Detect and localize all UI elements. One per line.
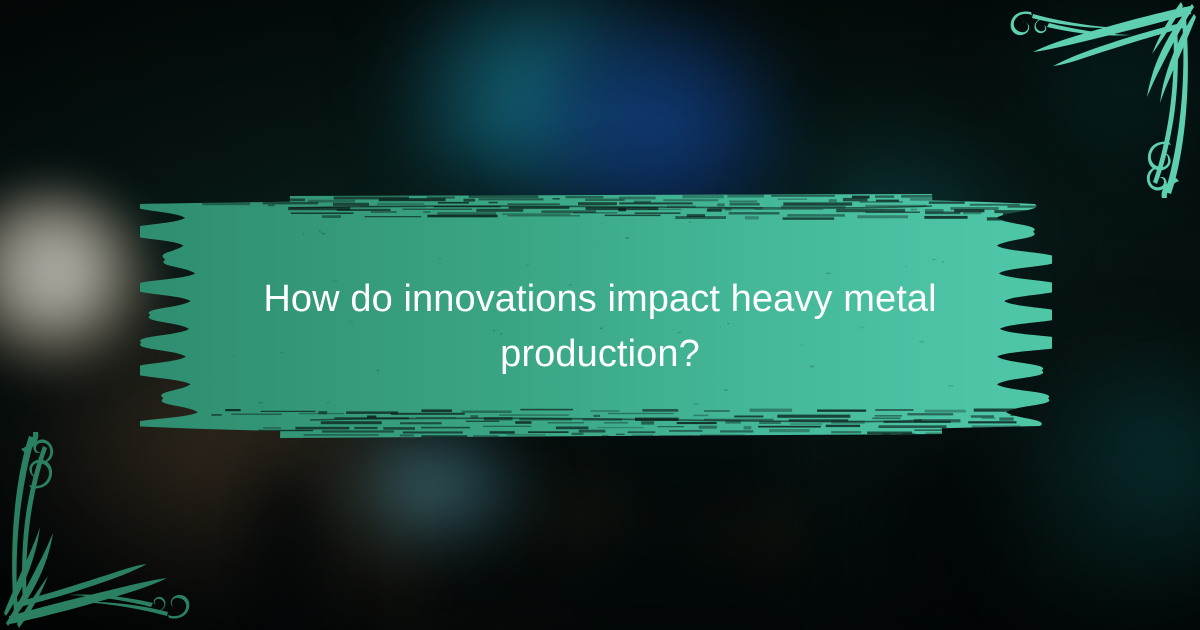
banner-canvas: How do innovations impact heavy metal pr…: [0, 0, 1200, 630]
page-title: How do innovations impact heavy metal pr…: [200, 272, 1000, 382]
